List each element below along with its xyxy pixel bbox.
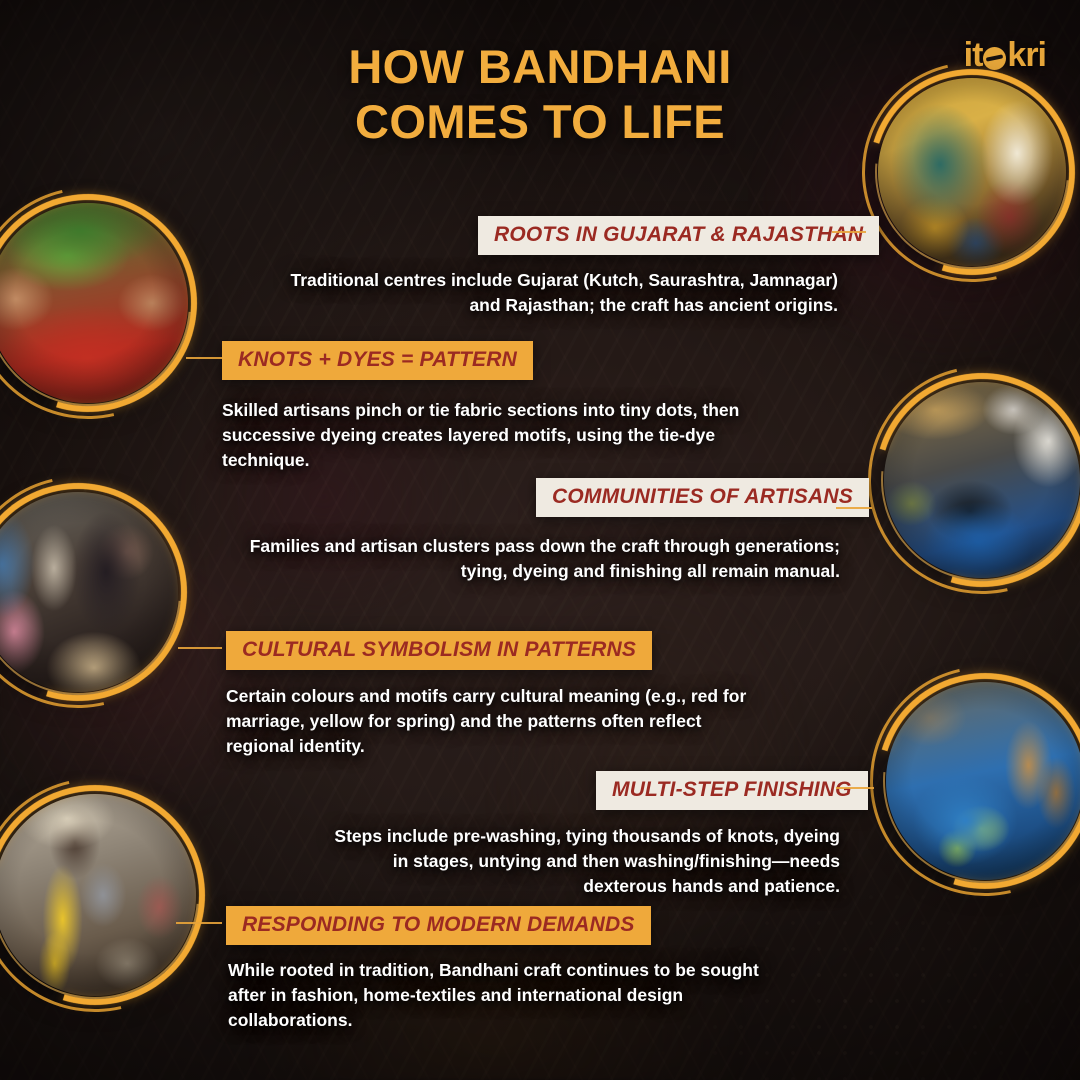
section-heading-cultural-symbolism-in-patterns: CULTURAL SYMBOLISM IN PATTERNS [226, 631, 652, 670]
photo-hands-tying-red-fabric [0, 203, 188, 403]
photo-artisan-dyeing-in-blue-tub [884, 382, 1080, 578]
photo-women-knotting-cream-fabric [0, 492, 178, 692]
section-body-cultural-symbolism-in-patterns: Certain colours and motifs carry cultura… [226, 684, 770, 759]
connector-line-2 [186, 357, 222, 359]
photo-disc [884, 382, 1080, 578]
logo-text-after: kri [1007, 38, 1046, 72]
connector-line-5 [836, 787, 874, 789]
photo-disc [886, 682, 1080, 880]
section-heading-multi-step-finishing: MULTI-STEP FINISHING [596, 771, 868, 810]
connector-line-6 [176, 922, 222, 924]
section-body-roots-in-gujarat-rajasthan: Traditional centres include Gujarat (Kut… [272, 268, 838, 318]
section-heading-knots-dyes-pattern: KNOTS + DYES = PATTERN [222, 341, 533, 380]
logo-text-before: it [964, 38, 983, 72]
photo-artisan-lifting-yellow-cloth [0, 794, 196, 996]
itokri-logo[interactable]: it kri [964, 38, 1046, 72]
section-heading-roots-in-gujarat-rajasthan: ROOTS IN GUJARAT & RAJASTHAN [478, 216, 879, 255]
section-body-multi-step-finishing: Steps include pre-washing, tying thousan… [314, 824, 840, 899]
photo-disc [0, 492, 178, 692]
photo-blue-dye-vat-with-fabric [886, 682, 1080, 880]
section-heading-responding-to-modern-demands: RESPONDING TO MODERN DEMANDS [226, 906, 651, 945]
section-heading-communities-of-artisans: COMMUNITIES OF ARTISANS [536, 478, 869, 517]
photo-disc [0, 794, 196, 996]
section-body-responding-to-modern-demands: While rooted in tradition, Bandhani craf… [228, 958, 780, 1033]
photo-two-women-tying-fabric [878, 78, 1066, 266]
connector-line-4 [178, 647, 222, 649]
photo-disc [0, 203, 188, 403]
connector-line-1 [832, 231, 866, 233]
logo-circle-o-icon [983, 47, 1006, 70]
section-body-knots-dyes-pattern: Skilled artisans pinch or tie fabric sec… [222, 398, 752, 473]
section-body-communities-of-artisans: Families and artisan clusters pass down … [234, 534, 840, 584]
connector-line-3 [836, 507, 872, 509]
photo-disc [878, 78, 1066, 266]
